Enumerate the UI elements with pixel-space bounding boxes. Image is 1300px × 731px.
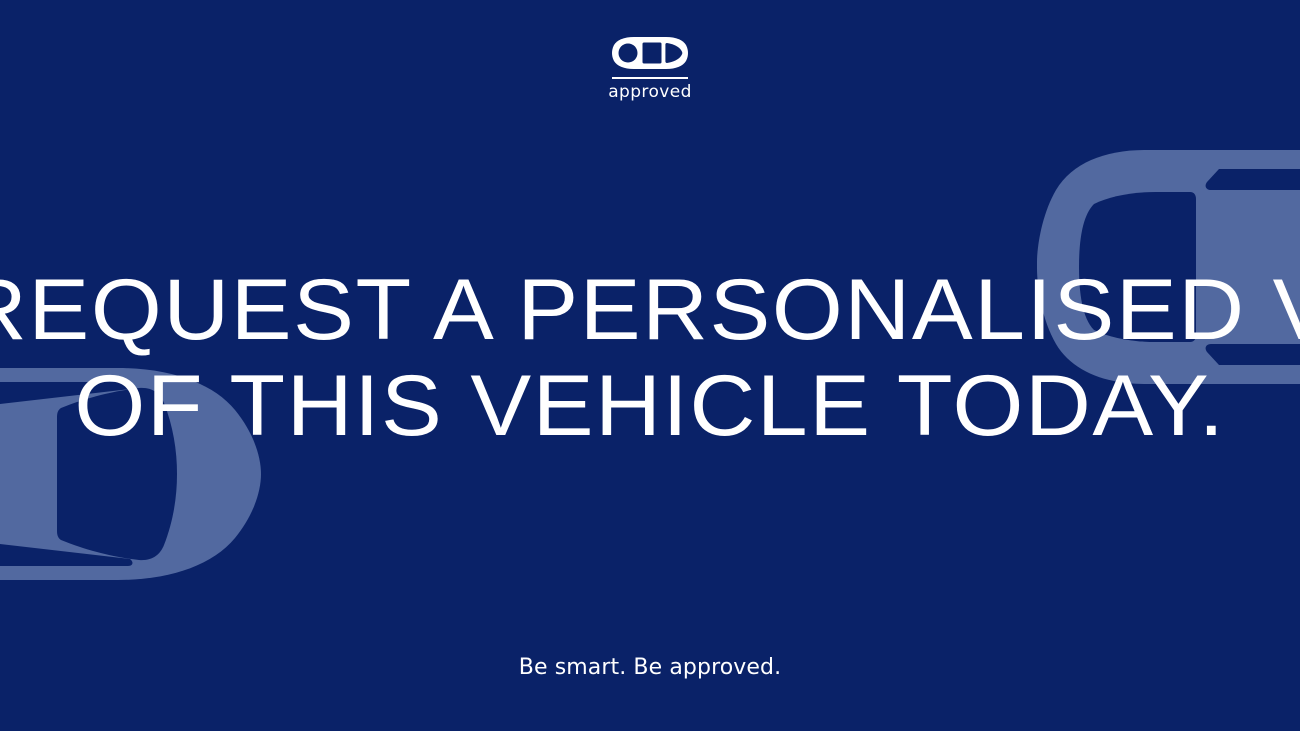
brand-wordmark: approved — [608, 84, 692, 101]
brand-logo: approved — [0, 36, 1300, 101]
promo-slide: approved REQUEST A PERSONALISED VIDEO OF… — [0, 0, 1300, 731]
car-top-view-icon — [612, 36, 688, 70]
headline-block: REQUEST A PERSONALISED VIDEO OF THIS VEH… — [0, 262, 1300, 454]
headline-line-1: REQUEST A PERSONALISED VIDEO — [0, 262, 1300, 358]
headline-line-2: OF THIS VEHICLE TODAY. — [0, 358, 1300, 454]
brand-divider — [612, 77, 688, 79]
tagline: Be smart. Be approved. — [0, 655, 1300, 681]
